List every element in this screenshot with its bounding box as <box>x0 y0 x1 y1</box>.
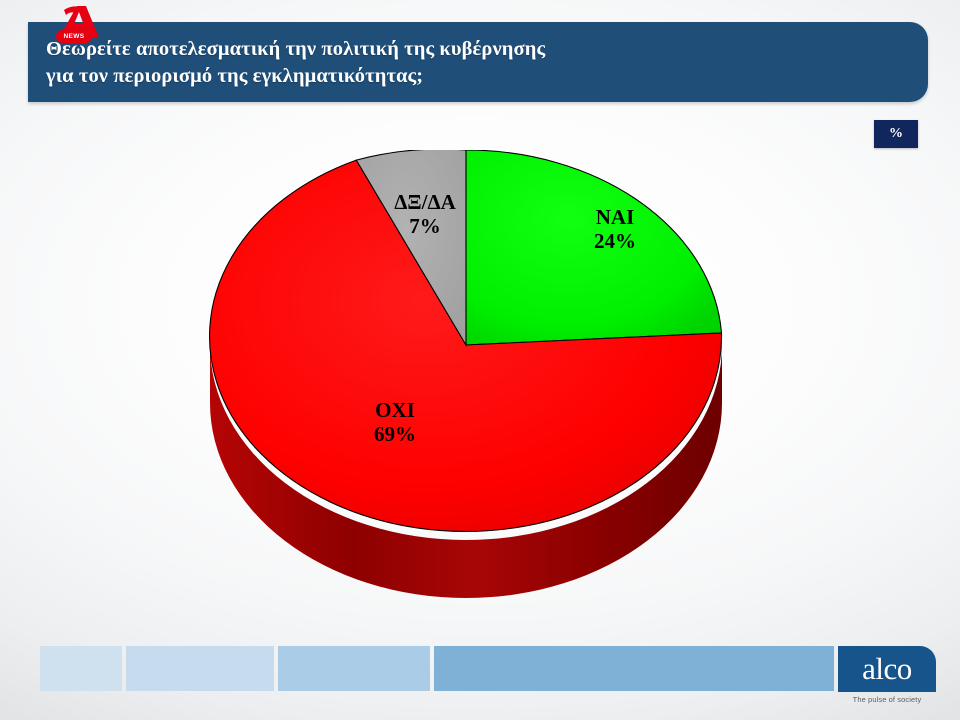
footer-bar <box>0 646 960 694</box>
pie-slice-nai <box>466 150 722 345</box>
alco-logo: alco <box>838 646 936 692</box>
alco-wordmark: alco <box>862 653 912 684</box>
units-badge: % <box>874 120 918 148</box>
footer-segment-2 <box>126 646 274 691</box>
pie-chart-svg <box>0 150 960 630</box>
footer-segment-4 <box>434 646 834 691</box>
slide-canvas: Θεωρείτε αποτελεσματική την πολιτική της… <box>0 0 960 720</box>
footer-segment-logo <box>40 646 122 691</box>
pie-top-faces <box>210 150 722 531</box>
title-bar: Θεωρείτε αποτελεσματική την πολιτική της… <box>28 22 928 102</box>
footer-segment-3 <box>278 646 430 691</box>
page-title: Θεωρείτε αποτελεσματική την πολιτική της… <box>46 36 908 91</box>
alpha-news-badge: NEWS <box>56 30 92 43</box>
pie-chart: ΝΑΙ 24% ΟΧΙ 69% ΔΞ/ΔΑ 7% <box>0 150 960 630</box>
alco-tagline: The pulse of society <box>838 695 936 704</box>
